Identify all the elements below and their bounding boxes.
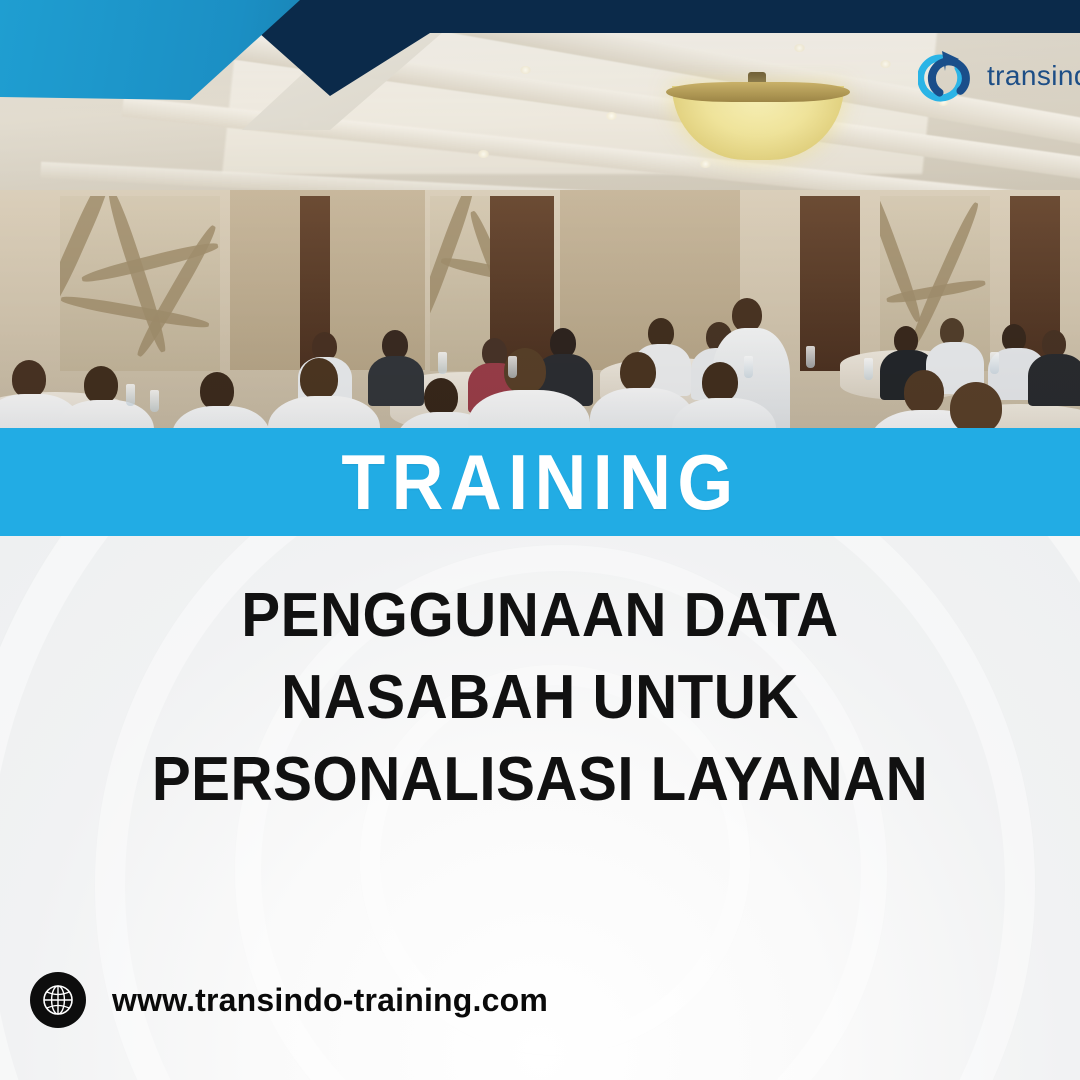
training-banner: TRAINING bbox=[0, 428, 1080, 536]
title-line-1: PENGGUNAAN DATA bbox=[32, 575, 1047, 657]
title-line-2: NASABAH UNTUK bbox=[32, 657, 1047, 739]
brand-logo[interactable]: transindo bbox=[918, 48, 1080, 104]
website-url[interactable]: www.transindo-training.com bbox=[112, 982, 548, 1019]
globe-icon bbox=[30, 972, 86, 1028]
training-poster: transindo TRAINING PENGGUNAAN DATA NASAB… bbox=[0, 0, 1080, 1080]
brand-name: transindo bbox=[987, 60, 1080, 92]
transindo-swoosh-arrow-icon bbox=[918, 48, 980, 104]
website-row[interactable]: www.transindo-training.com bbox=[30, 972, 548, 1028]
title-line-3: PERSONALISASI LAYANAN bbox=[32, 739, 1047, 821]
page-title: PENGGUNAAN DATA NASABAH UNTUK PERSONALIS… bbox=[0, 575, 1080, 821]
banner-label: TRAINING bbox=[341, 443, 739, 521]
